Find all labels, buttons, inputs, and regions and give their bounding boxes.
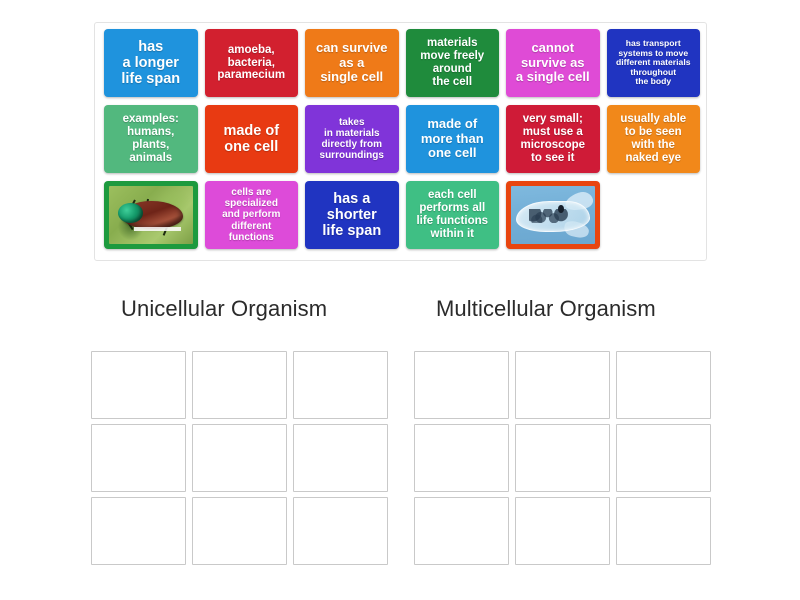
drop-slot[interactable] <box>616 424 711 492</box>
tile-bank-row: hasa longerlife span amoeba,bacteria,par… <box>99 29 702 103</box>
draggable-tile[interactable]: cells arespecializedand performdifferent… <box>205 181 298 249</box>
tile-label: takesin materialsdirectly fromsurroundin… <box>308 117 396 162</box>
tile-label: amoeba,bacteria,paramecium <box>208 44 296 83</box>
draggable-tile[interactable]: can surviveas asingle cell <box>305 29 399 97</box>
dropzone-unicellular[interactable] <box>91 351 388 565</box>
drop-slot[interactable] <box>91 497 186 565</box>
drop-slot[interactable] <box>91 351 186 419</box>
tile-label: made ofone cell <box>208 123 296 155</box>
tile-bank-empty-slot <box>607 181 700 249</box>
drop-slot[interactable] <box>616 497 711 565</box>
drop-slot[interactable] <box>192 351 287 419</box>
tile-bank-row: cells arespecializedand performdifferent… <box>99 181 702 255</box>
tile-label: each cellperforms alllife functionswithi… <box>409 189 496 241</box>
tile-label: materialsmove freelyaroundthe cell <box>409 37 497 89</box>
draggable-tile[interactable]: each cellperforms alllife functionswithi… <box>406 181 499 249</box>
draggable-tile[interactable] <box>506 181 600 249</box>
tile-label: made ofmore thanone cell <box>409 117 497 161</box>
tile-label: cells arespecializedand performdifferent… <box>208 187 295 243</box>
column-heading-multicellular: Multicellular Organism <box>436 296 656 322</box>
drop-slot[interactable] <box>414 351 509 419</box>
column-heading-unicellular: Unicellular Organism <box>121 296 327 322</box>
drop-slot[interactable] <box>414 497 509 565</box>
drop-slot[interactable] <box>192 497 287 565</box>
draggable-tile[interactable]: has ashorterlife span <box>305 181 398 249</box>
dropzone-multicellular[interactable] <box>414 351 711 565</box>
drop-slot[interactable] <box>414 424 509 492</box>
drop-slot[interactable] <box>91 424 186 492</box>
drop-slot[interactable] <box>293 351 388 419</box>
drop-slot[interactable] <box>293 497 388 565</box>
tile-label: has ashorterlife span <box>308 191 395 240</box>
tile-bank-row: examples:humans,plants,animals made ofon… <box>99 105 702 179</box>
beetle-photo-icon <box>109 186 193 244</box>
tile-label: examples:humans,plants,animals <box>107 113 195 165</box>
tile-label: very small;must use amicroscopeto see it <box>509 113 597 165</box>
draggable-tile[interactable]: usually ableto be seenwith thenaked eye <box>607 105 701 173</box>
draggable-tile[interactable]: has transportsystems to movedifferent ma… <box>607 29 701 97</box>
draggable-tile[interactable]: made ofone cell <box>205 105 299 173</box>
tile-label: hasa longerlife span <box>107 39 195 88</box>
draggable-tile[interactable]: examples:humans,plants,animals <box>104 105 198 173</box>
draggable-tile[interactable]: takesin materialsdirectly fromsurroundin… <box>305 105 399 173</box>
tile-label: usually ableto be seenwith thenaked eye <box>610 113 698 165</box>
drop-slot[interactable] <box>293 424 388 492</box>
tile-label: can surviveas asingle cell <box>308 41 396 85</box>
drop-slot[interactable] <box>616 351 711 419</box>
draggable-tile[interactable]: materialsmove freelyaroundthe cell <box>406 29 500 97</box>
amoeba-micrograph-icon <box>511 186 595 244</box>
tile-label: cannotsurvive asa single cell <box>509 41 597 85</box>
draggable-tile[interactable]: made ofmore thanone cell <box>406 105 500 173</box>
draggable-tile[interactable] <box>104 181 198 249</box>
draggable-tile[interactable]: very small;must use amicroscopeto see it <box>506 105 600 173</box>
drop-slot[interactable] <box>192 424 287 492</box>
drop-slot[interactable] <box>515 497 610 565</box>
tile-label: has transportsystems to movedifferent ma… <box>610 39 698 87</box>
drop-slot[interactable] <box>515 424 610 492</box>
draggable-tile[interactable]: hasa longerlife span <box>104 29 198 97</box>
drop-slot[interactable] <box>515 351 610 419</box>
draggable-tile[interactable]: cannotsurvive asa single cell <box>506 29 600 97</box>
tile-bank: hasa longerlife span amoeba,bacteria,par… <box>94 22 707 261</box>
draggable-tile[interactable]: amoeba,bacteria,paramecium <box>205 29 299 97</box>
